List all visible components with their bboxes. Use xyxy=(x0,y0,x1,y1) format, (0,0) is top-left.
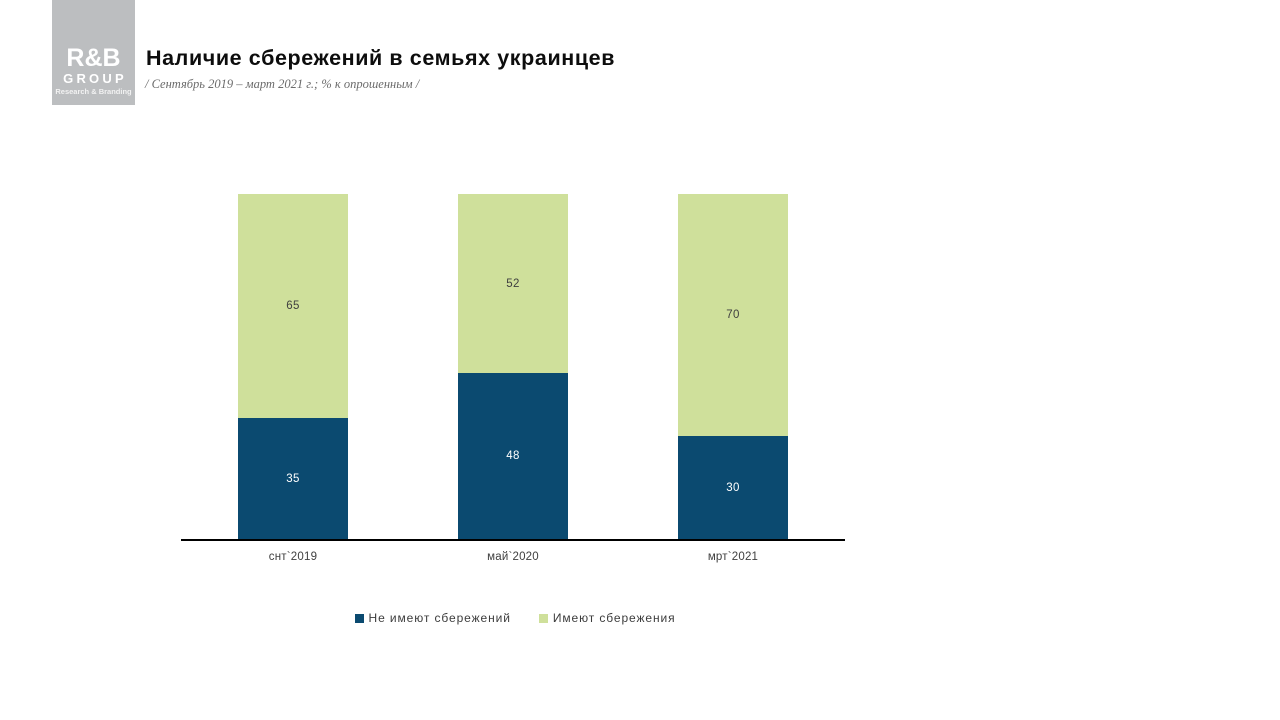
bar-value-label: 35 xyxy=(286,473,299,485)
bar-value-label: 65 xyxy=(286,300,299,312)
legend-swatch-icon xyxy=(539,614,548,623)
category-label-3: мрт`2021 xyxy=(678,551,788,563)
bar-segment-have-savings[interactable]: 52 xyxy=(458,194,568,373)
bar-value-label: 52 xyxy=(506,278,519,290)
bar-value-label: 70 xyxy=(726,309,739,321)
bar-segment-have-savings[interactable]: 65 xyxy=(238,194,348,418)
bar-segment-no-savings[interactable]: 35 xyxy=(238,418,348,539)
bar-group-2[interactable]: 52 48 xyxy=(458,194,568,539)
legend-swatch-icon xyxy=(355,614,364,623)
bar-segment-no-savings[interactable]: 30 xyxy=(678,436,788,539)
stacked-bar-chart: 65 35 снт`2019 52 48 май`2020 70 30 мрт`… xyxy=(0,0,1280,720)
bar-value-label: 48 xyxy=(506,450,519,462)
bar-group-1[interactable]: 65 35 xyxy=(238,194,348,539)
legend-label: Не имеют сбережений xyxy=(369,611,511,625)
legend-item-no-savings[interactable]: Не имеют сбережений xyxy=(355,611,511,625)
bar-group-3[interactable]: 70 30 xyxy=(678,194,788,539)
legend-label: Имеют сбережения xyxy=(553,611,676,625)
legend-item-have-savings[interactable]: Имеют сбережения xyxy=(539,611,676,625)
category-label-2: май`2020 xyxy=(458,551,568,563)
x-axis-line xyxy=(181,539,845,541)
category-label-1: снт`2019 xyxy=(238,551,348,563)
bar-segment-have-savings[interactable]: 70 xyxy=(678,194,788,436)
bar-segment-no-savings[interactable]: 48 xyxy=(458,373,568,539)
bar-value-label: 30 xyxy=(726,482,739,494)
chart-legend: Не имеют сбережений Имеют сбережения xyxy=(0,611,1030,625)
